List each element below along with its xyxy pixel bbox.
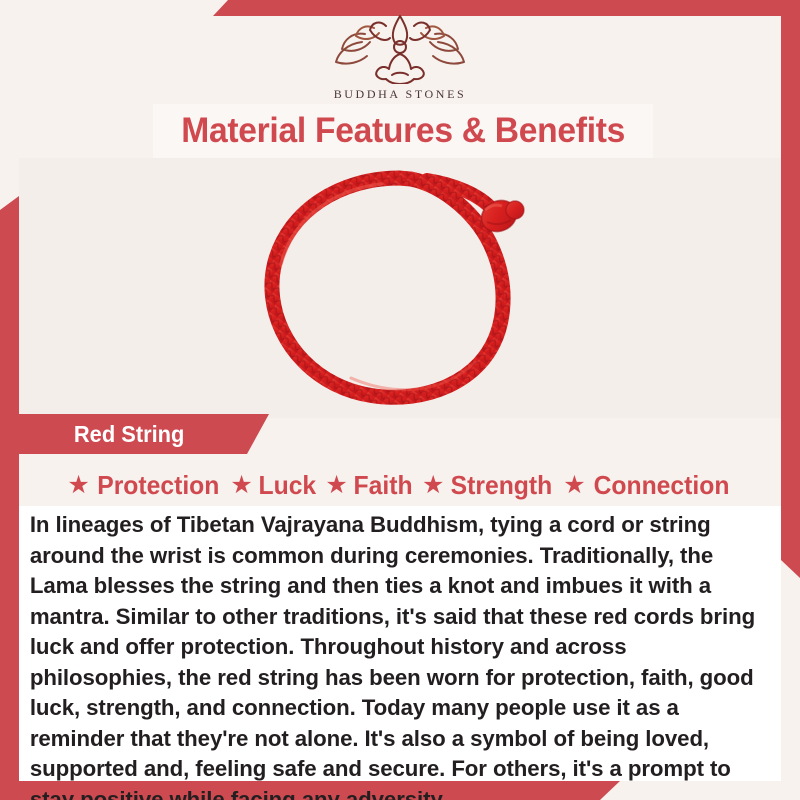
lotus-meditation-icon [332, 14, 468, 84]
feature-label: Protection [97, 470, 219, 501]
star-icon: ★ [422, 473, 444, 498]
feature-item-connection: ★ Connection [563, 470, 732, 501]
brand-name: BUDDHA STONES [0, 87, 800, 102]
feature-list: ★ Protection ★ Luck ★ Faith ★ Strength ★… [19, 464, 781, 506]
feature-label: Luck [258, 470, 316, 501]
description-text: In lineages of Tibetan Vajrayana Buddhis… [19, 510, 770, 800]
red-string-bracelet-photo [231, 164, 571, 414]
feature-item-faith: ★ Faith [325, 470, 414, 501]
star-icon: ★ [563, 473, 585, 498]
frame-left-accent [0, 196, 19, 800]
page-title: Material Features & Benefits [181, 111, 625, 151]
star-icon: ★ [67, 473, 89, 498]
section-label: Red String [74, 421, 184, 448]
description-panel: In lineages of Tibetan Vajrayana Buddhis… [19, 506, 781, 781]
infographic-page: BUDDHA STONES Material Features & Benefi… [0, 0, 800, 800]
star-icon: ★ [230, 473, 252, 498]
feature-item-strength: ★ Strength [422, 470, 555, 501]
feature-item-protection: ★ Protection [67, 470, 222, 501]
star-icon: ★ [325, 473, 347, 498]
brand-logo: BUDDHA STONES [0, 14, 800, 102]
hero-image [19, 158, 781, 418]
title-banner: Material Features & Benefits [153, 104, 653, 158]
feature-label: Connection [593, 470, 729, 501]
feature-label: Faith [353, 470, 412, 501]
feature-label: Strength [451, 470, 553, 501]
section-label-banner: Red String [19, 414, 269, 454]
feature-item-luck: ★ Luck [230, 470, 317, 501]
